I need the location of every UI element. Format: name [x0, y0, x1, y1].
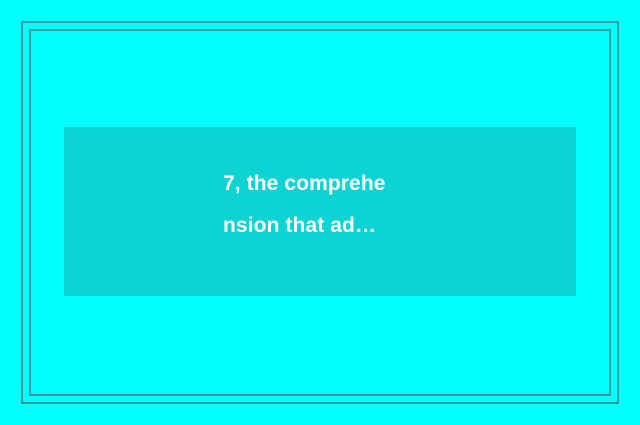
content-text-line-1: 7, the comprehe — [223, 163, 386, 205]
slide-canvas: 7, the comprehe nsion that ad… — [0, 0, 640, 425]
content-text-line-2: nsion that ad… — [223, 205, 376, 247]
content-panel: 7, the comprehe nsion that ad… — [64, 127, 576, 296]
